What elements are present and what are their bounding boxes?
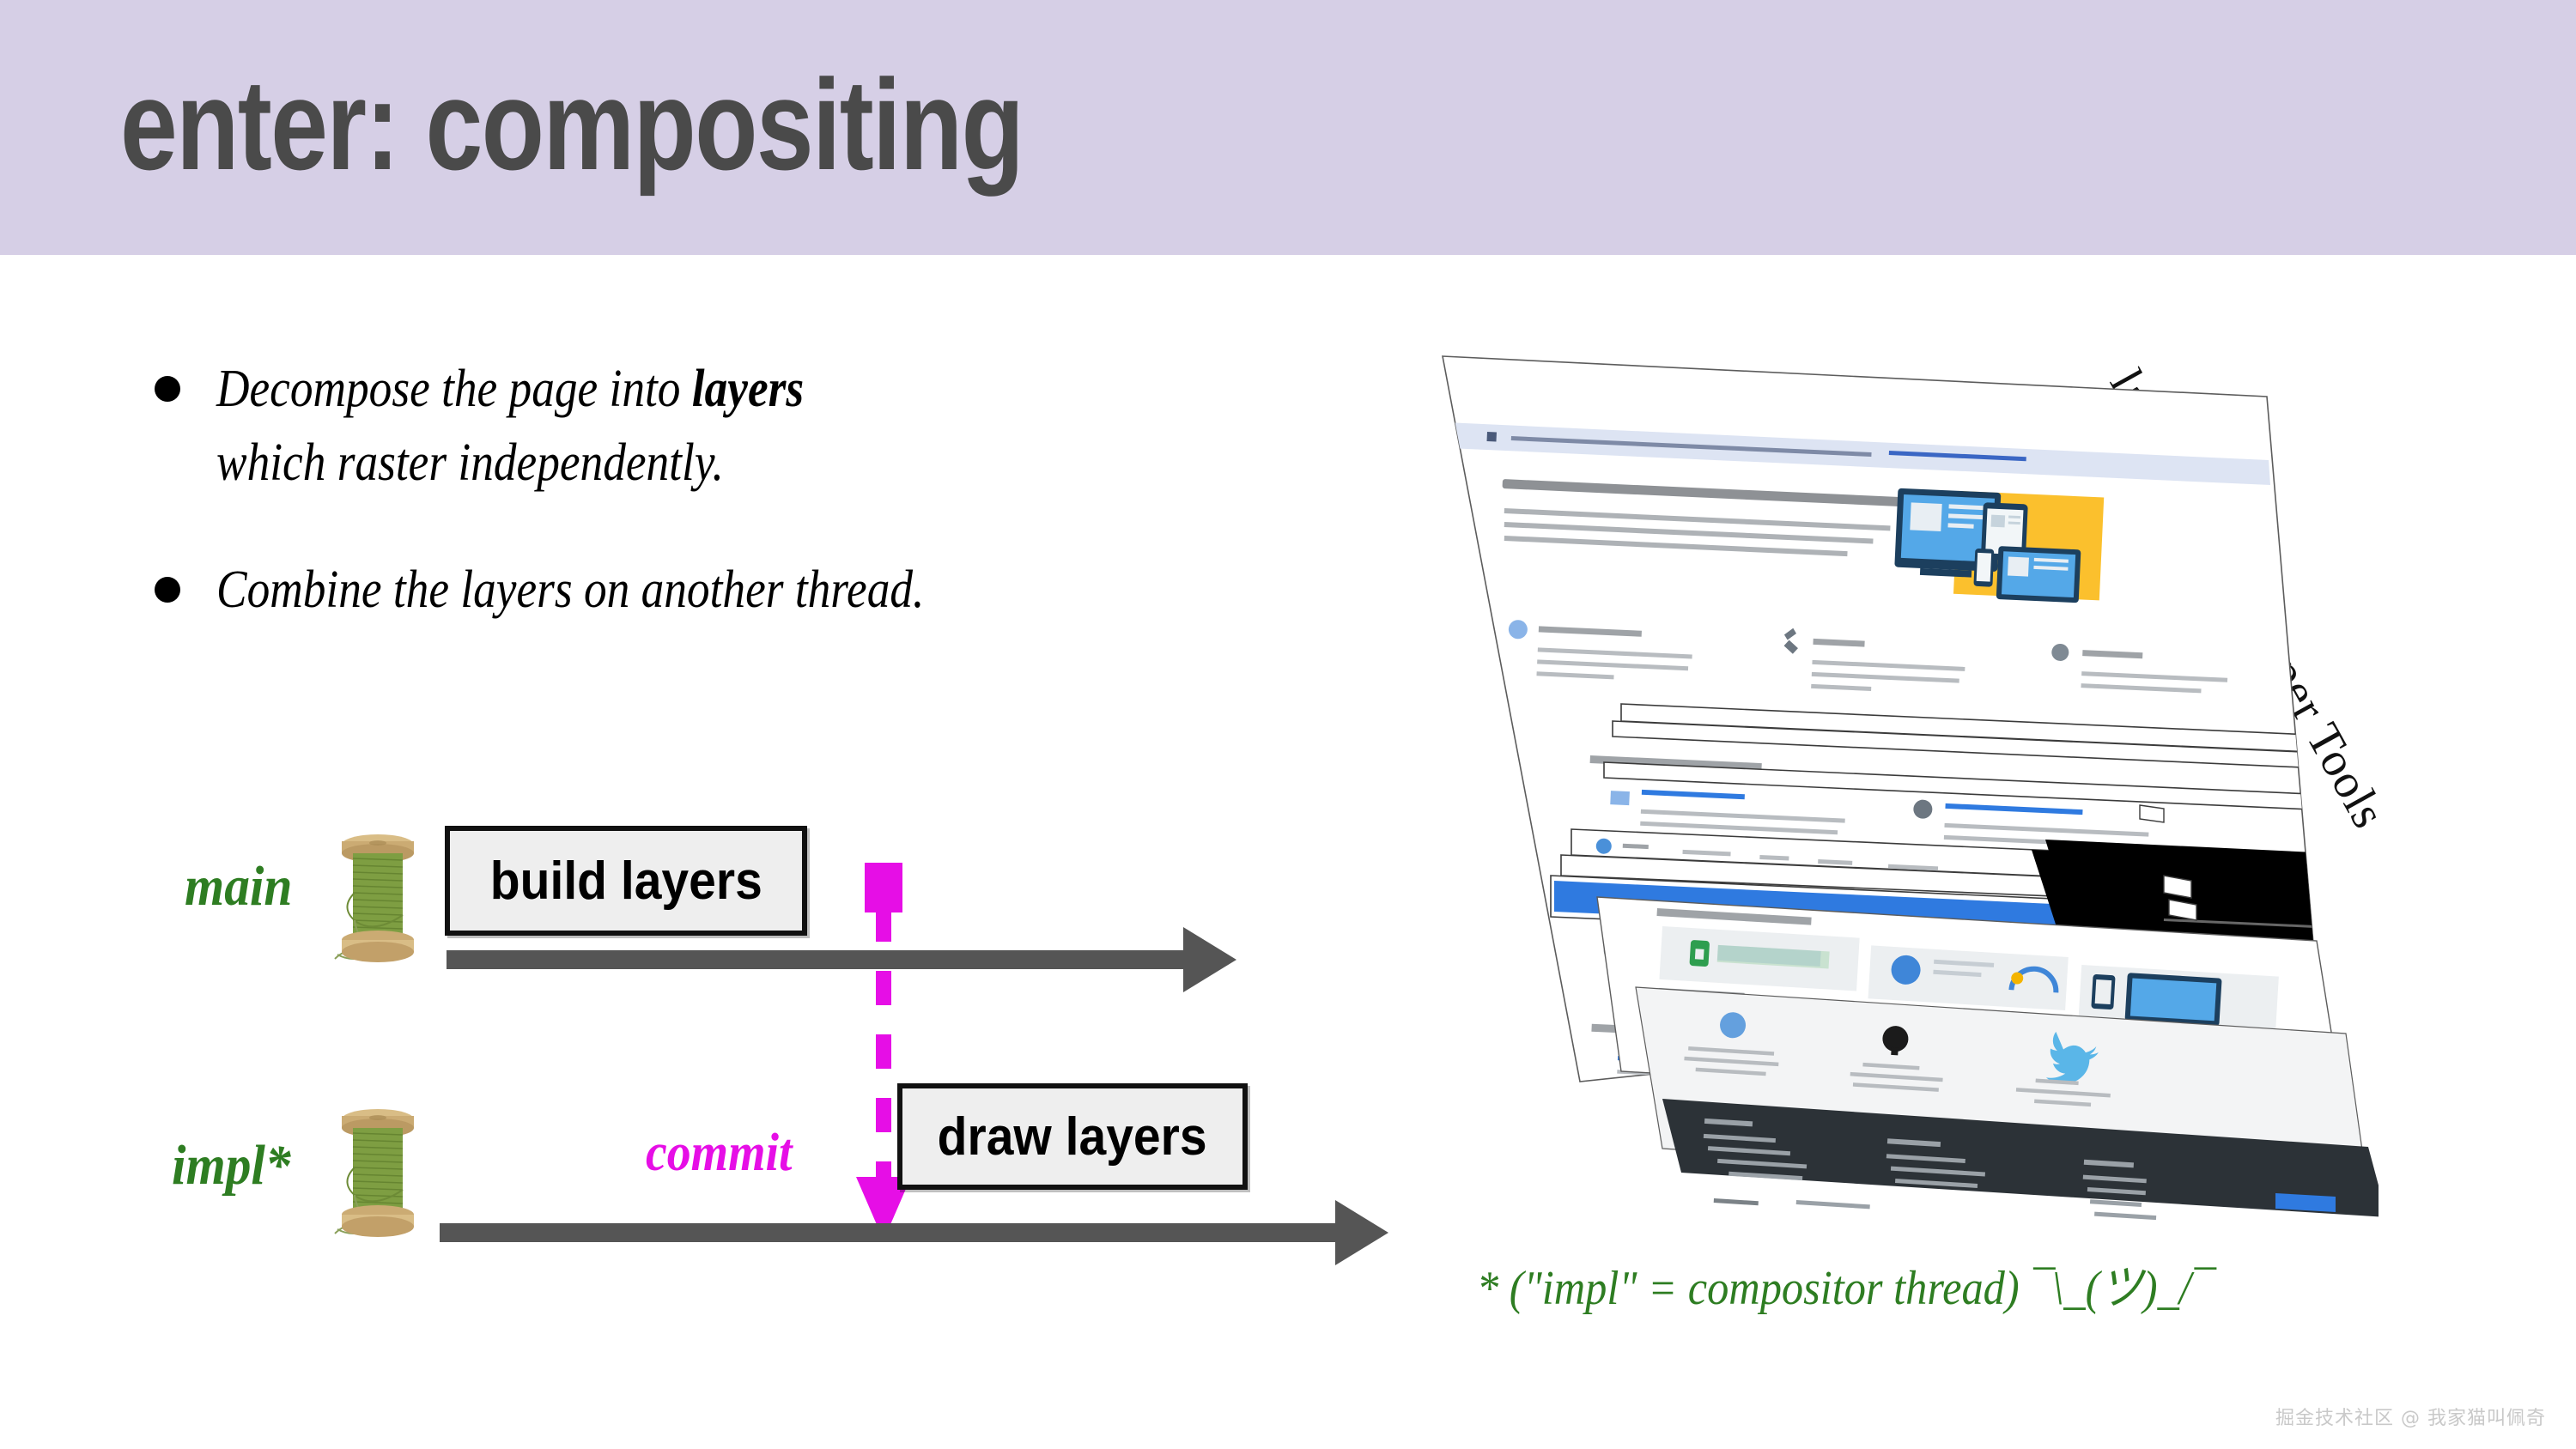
page-title: enter: compositing	[120, 60, 1023, 189]
title-band: enter: compositing	[0, 0, 2576, 255]
bullet-text: Combine the layers on another thread.	[216, 553, 924, 627]
mockup-footer	[1408, 979, 2379, 1236]
slide-root: enter: compositing Decompose the page in…	[0, 0, 2576, 1449]
footnote: * ("impl" = compositor thread) ¯\_(ツ)_/¯	[1477, 1249, 2213, 1319]
thread-label-impl: impl*	[172, 1133, 291, 1198]
thread-timeline-diagram: main build layers	[0, 773, 1460, 1305]
timeline-arrowhead-impl	[1335, 1200, 1388, 1265]
thread-spool-icon	[331, 1100, 425, 1251]
bullet-text-emphasis: layers	[692, 360, 804, 418]
timeline-impl	[440, 1223, 1337, 1242]
stage-box-label: build layers	[489, 851, 762, 912]
thread-label-main: main	[185, 854, 292, 919]
bullet-text-lead: Decompose the page into	[216, 360, 692, 418]
list-item: Decompose the page into layers which ras…	[155, 352, 1494, 500]
timeline-main	[447, 950, 1185, 969]
stage-box-build-layers: build layers	[445, 826, 807, 936]
commit-label: commit	[646, 1123, 792, 1184]
list-item: Combine the layers on another thread.	[155, 553, 1494, 627]
bullet-text: Decompose the page into layers which ras…	[216, 352, 804, 500]
stage-box-draw-layers: draw layers	[897, 1083, 1248, 1190]
stage-box-label: draw layers	[938, 1106, 1207, 1167]
bullet-dot-icon	[155, 577, 180, 603]
bullet-text-tail: which raster independently.	[216, 433, 724, 492]
bullet-dot-icon	[155, 376, 180, 402]
thread-spool-icon	[331, 826, 425, 976]
watermark: 掘金技术社区 @ 我家猫叫佩奇	[2275, 1403, 2546, 1430]
timeline-arrowhead-main	[1183, 927, 1236, 992]
bullet-text-lead: Combine the layers on another thread.	[216, 561, 924, 619]
bullet-list: Decompose the page into layers which ras…	[155, 352, 1494, 668]
devtools-layers-mockup	[1408, 326, 2379, 1125]
